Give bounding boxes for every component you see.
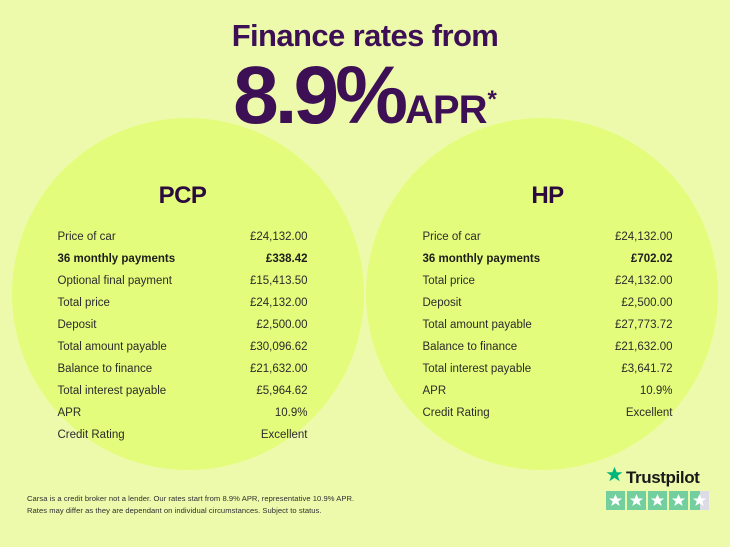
rate-unit-label: APR xyxy=(405,90,486,130)
table-row: 36 monthly payments£702.02 xyxy=(423,248,673,270)
trustpilot-star-icon xyxy=(627,491,646,510)
row-value: Excellent xyxy=(261,424,308,446)
table-row: Deposit£2,500.00 xyxy=(423,292,673,314)
row-value: £24,132.00 xyxy=(250,292,308,314)
row-value: £24,132.00 xyxy=(615,226,673,248)
row-label: Balance to finance xyxy=(423,336,518,358)
row-label: 36 monthly payments xyxy=(58,248,176,270)
row-label: Total amount payable xyxy=(58,336,167,358)
table-row: Price of car£24,132.00 xyxy=(58,226,308,248)
table-row: Balance to finance£21,632.00 xyxy=(58,358,308,380)
table-row: Credit RatingExcellent xyxy=(423,402,673,424)
table-row: Total interest payable£5,964.62 xyxy=(58,380,308,402)
row-label: Total amount payable xyxy=(423,314,532,336)
table-heading-hp: HP xyxy=(531,182,563,210)
row-label: Deposit xyxy=(58,314,97,336)
row-value: £21,632.00 xyxy=(615,336,673,358)
row-value: Excellent xyxy=(626,402,673,424)
table-row: Total interest payable£3,641.72 xyxy=(423,358,673,380)
row-value: £3,641.72 xyxy=(621,358,672,380)
table-row: Total amount payable£30,096.62 xyxy=(58,336,308,358)
row-label: Deposit xyxy=(423,292,462,314)
table-row: Balance to finance£21,632.00 xyxy=(423,336,673,358)
row-label: Price of car xyxy=(58,226,116,248)
table-body-pcp: Price of car£24,132.0036 monthly payment… xyxy=(58,226,308,446)
disclaimer: Carsa is a credit broker not a lender. O… xyxy=(27,493,354,516)
table-heading-pcp: PCP xyxy=(159,182,207,210)
trustpilot-star-icon xyxy=(669,491,688,510)
promo-banner: Finance rates from 8.9% APR * PCP Price … xyxy=(0,0,730,547)
table-row: Optional final payment£15,413.50 xyxy=(58,270,308,292)
row-label: Total interest payable xyxy=(423,358,532,380)
row-value: £702.02 xyxy=(631,248,673,270)
row-label: Credit Rating xyxy=(423,402,490,424)
table-row: Deposit£2,500.00 xyxy=(58,314,308,336)
row-label: Total price xyxy=(58,292,110,314)
table-row: 36 monthly payments£338.42 xyxy=(58,248,308,270)
row-value: £24,132.00 xyxy=(615,270,673,292)
trustpilot-star-icon xyxy=(690,491,709,510)
finance-table-hp: HP Price of car£24,132.0036 monthly paym… xyxy=(365,182,730,446)
disclaimer-line-1: Carsa is a credit broker not a lender. O… xyxy=(27,493,354,505)
trustpilot-star-rating xyxy=(606,491,716,510)
trustpilot-wordmark: Trustpilot xyxy=(606,466,716,488)
table-row: APR10.9% xyxy=(58,402,308,424)
trustpilot-label: Trustpilot xyxy=(626,469,699,486)
footnote-asterisk: * xyxy=(488,88,497,112)
table-row: APR10.9% xyxy=(423,380,673,402)
table-row: Total price£24,132.00 xyxy=(423,270,673,292)
row-value: 10.9% xyxy=(640,380,673,402)
table-row: Total amount payable£27,773.72 xyxy=(423,314,673,336)
row-value: 10.9% xyxy=(275,402,308,424)
row-value: £30,096.62 xyxy=(250,336,308,358)
table-row: Total price£24,132.00 xyxy=(58,292,308,314)
row-label: Total interest payable xyxy=(58,380,167,402)
trustpilot-rating[interactable]: Trustpilot xyxy=(606,466,716,510)
row-label: APR xyxy=(58,402,82,424)
row-value: £5,964.62 xyxy=(256,380,307,402)
banner-header: Finance rates from 8.9% APR * xyxy=(0,20,730,137)
row-value: £2,500.00 xyxy=(621,292,672,314)
trustpilot-star-icon xyxy=(606,491,625,510)
row-label: Price of car xyxy=(423,226,481,248)
disclaimer-line-2: Rates may differ as they are dependant o… xyxy=(27,505,354,517)
finance-comparison-tables: PCP Price of car£24,132.0036 monthly pay… xyxy=(0,182,730,446)
row-label: Balance to finance xyxy=(58,358,153,380)
row-label: Optional final payment xyxy=(58,270,172,292)
page-title: Finance rates from xyxy=(0,20,730,53)
row-label: Total price xyxy=(423,270,475,292)
trustpilot-star-icon xyxy=(606,466,623,488)
row-value: £27,773.72 xyxy=(615,314,673,336)
table-row: Credit RatingExcellent xyxy=(58,424,308,446)
row-label: Credit Rating xyxy=(58,424,125,446)
table-row: Price of car£24,132.00 xyxy=(423,226,673,248)
row-value: £2,500.00 xyxy=(256,314,307,336)
row-value: £15,413.50 xyxy=(250,270,308,292)
headline-rate: 8.9% APR * xyxy=(0,55,730,137)
row-value: £338.42 xyxy=(266,248,308,270)
finance-table-pcp: PCP Price of car£24,132.0036 monthly pay… xyxy=(0,182,365,446)
trustpilot-star-icon xyxy=(648,491,667,510)
rate-percentage: 8.9% xyxy=(233,55,404,137)
table-body-hp: Price of car£24,132.0036 monthly payment… xyxy=(423,226,673,424)
row-label: 36 monthly payments xyxy=(423,248,541,270)
row-label: APR xyxy=(423,380,447,402)
row-value: £24,132.00 xyxy=(250,226,308,248)
row-value: £21,632.00 xyxy=(250,358,308,380)
